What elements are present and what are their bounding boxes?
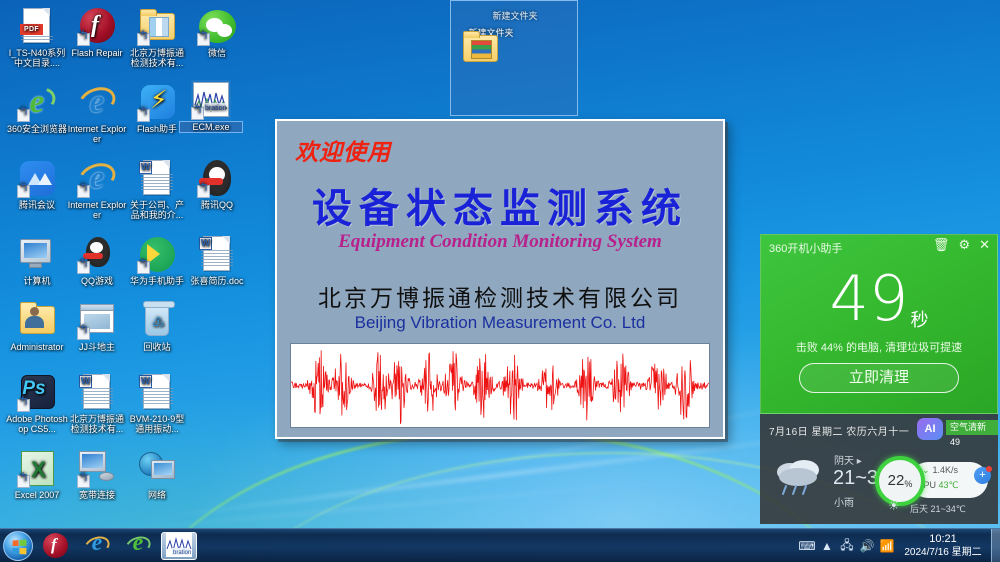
word-document-icon: W — [137, 372, 177, 412]
weather-date: 7月16日 星期二 农历六月十一 — [769, 423, 909, 438]
desktop-icon-ecm-exe[interactable]: bration ECM.exe — [180, 80, 242, 132]
desktop-icon-internet-explorer[interactable]: e Internet Explorer — [66, 82, 128, 144]
taskbar[interactable]: f e e bration — [0, 528, 1000, 562]
taskbar-button-internet-explorer[interactable]: e — [79, 532, 115, 560]
flash-player-icon: f — [43, 533, 69, 559]
vibration-waveform-svg — [291, 344, 709, 427]
ecm-app-icon: bration — [166, 533, 192, 559]
clock-time: 10:21 — [897, 533, 989, 546]
weather-tomorrow: 后天 21~34℃ — [910, 502, 966, 515]
rain-cloud-icon — [772, 456, 826, 498]
ai-badge[interactable]: AI — [917, 418, 943, 440]
icon-label: JJ斗地主 — [66, 342, 128, 352]
360-browser-icon: e — [125, 533, 151, 559]
desktop-icon-recycle-bin[interactable]: ♳ 回收站 — [126, 300, 188, 352]
desktop-icon-resume-doc[interactable]: W 张喜简历.doc — [186, 234, 248, 286]
recycle-bin-icon: ♳ — [137, 300, 177, 340]
photoshop-icon: Ps — [17, 372, 57, 412]
icon-label: I_TS-N40系列中文目录.... — [6, 48, 68, 68]
desktop-icon-bvm-folder[interactable]: 北京万博振通检测技术有... — [126, 6, 188, 68]
show-hidden-icons-chevron[interactable]: ▲ — [817, 539, 837, 553]
desktop-icon-jj-doudizhu[interactable]: JJ斗地主 — [66, 300, 128, 352]
taskbar-button-ecm[interactable]: bration — [161, 532, 197, 560]
add-widget-button[interactable]: + — [974, 467, 991, 484]
weather-system-widget[interactable]: 7月16日 星期二 农历六月十一 AI 空气清新 49 阴天 ▸ 21~31 小… — [760, 414, 998, 524]
internet-explorer-icon: e — [84, 533, 110, 559]
desktop-icon-photoshop[interactable]: Ps Adobe Photoshop CS5... — [6, 372, 68, 434]
company-name-english: Beijing Vibration Measurement Co. Ltd — [277, 313, 723, 333]
internet-explorer-icon: e — [77, 82, 117, 122]
icon-label: 北京万博振通检测技术有... — [126, 48, 188, 68]
flash-repair-icon: f — [77, 6, 117, 46]
clock-date: 2024/7/16 星期二 — [897, 546, 989, 559]
splash-window[interactable]: 欢迎使用 设备状态监测系统 Equipment Condition Monito… — [275, 119, 725, 439]
icon-label: 回收站 — [126, 342, 188, 352]
icon-label: Adobe Photoshop CS5... — [6, 414, 68, 434]
company-name-chinese: 北京万博振通检测技术有限公司 — [277, 279, 723, 313]
flash-helper-icon: ⚡ — [137, 82, 177, 122]
start-button[interactable] — [3, 531, 33, 561]
icon-label: BVM-210-9型通用振动... — [126, 414, 188, 434]
keyboard-icon[interactable]: ⌨ — [797, 539, 817, 553]
trash-icon[interactable]: 🗑 — [933, 238, 950, 252]
huawei-assistant-icon — [137, 234, 177, 274]
desktop-icon-new-folder[interactable]: 新建文件夹 — [460, 28, 522, 38]
desktop-icon-network[interactable]: 网络 — [126, 448, 188, 500]
network-speed: ⌄1.4K/s — [922, 465, 958, 476]
cpu-usage-ring: 22% — [875, 456, 925, 506]
icon-label: Administrator — [6, 342, 68, 352]
taskbar-button-360-browser[interactable]: e — [120, 532, 156, 560]
desktop-icon-bvm-company-doc[interactable]: W 北京万博振通检测技术有... — [66, 372, 128, 434]
icon-label: 360安全浏览器 — [6, 124, 68, 134]
system-tray[interactable]: ⌨ ▲ 🖧 🔊 📶 10:21 2024/7/16 星期二 — [797, 529, 1000, 562]
network-icon[interactable]: 🖧 — [837, 536, 857, 557]
icon-label: 网络 — [126, 490, 188, 500]
gear-icon[interactable]: ⚙ — [958, 238, 970, 252]
widget-title: 360开机小助手 — [769, 240, 842, 256]
air-quality-badge: 空气清新 49 — [946, 420, 998, 435]
boot-seconds-unit: 秒 — [910, 310, 928, 331]
desktop-icon-administrator[interactable]: Administrator — [6, 300, 68, 352]
user-folder-icon — [17, 300, 57, 340]
taskbar-clock[interactable]: 10:21 2024/7/16 星期二 — [897, 533, 989, 559]
signal-icon[interactable]: 📶 — [877, 539, 897, 553]
icon-label: Internet Explorer — [66, 124, 128, 144]
icon-label: 华为手机助手 — [126, 276, 188, 286]
desktop-icon-qq-games[interactable]: QQ游戏 — [66, 234, 128, 286]
tencent-meeting-icon — [17, 158, 57, 198]
clean-now-button[interactable]: 立即清理 — [799, 363, 959, 393]
widget-title-bar-icons: 🗑 ⚙ ✕ — [933, 238, 990, 252]
weather-wind: 阴天 ▸ — [834, 452, 862, 467]
ecm-app-icon: bration — [191, 80, 231, 120]
internet-explorer-icon: e — [77, 158, 117, 198]
desktop-icon-360-browser[interactable]: e 360安全浏览器 — [6, 82, 68, 134]
desktop-icon-huawei-assistant[interactable]: 华为手机助手 — [126, 234, 188, 286]
computer-icon — [17, 234, 57, 274]
desktop-icon-computer[interactable]: 计算机 — [6, 234, 68, 286]
desktop-icon-flash-helper[interactable]: ⚡ Flash助手 — [126, 82, 188, 134]
desktop-icon-tencent-qq[interactable]: 腾讯QQ — [186, 158, 248, 210]
volume-icon[interactable]: 🔊 — [857, 539, 877, 553]
app-title-chinese: 设备状态监测系统 — [277, 176, 723, 234]
svg-text:bration: bration — [173, 550, 191, 556]
pdf-document-icon: PDF — [17, 6, 57, 46]
cpu-usage-value: 22 — [888, 472, 905, 489]
icon-label: 北京万博振通检测技术有... — [66, 414, 128, 434]
icon-label: 张喜简历.doc — [186, 276, 248, 286]
desktop[interactable]: PDF I_TS-N40系列中文目录.... f Flash Repair 北京… — [0, 0, 1000, 562]
close-icon[interactable]: ✕ — [979, 238, 990, 252]
icon-label: 腾讯会议 — [6, 200, 68, 210]
broadband-connection-icon — [77, 448, 117, 488]
icon-label: 腾讯QQ — [186, 200, 248, 210]
icon-label: Flash Repair — [66, 48, 128, 58]
welcome-text: 欢迎使用 — [295, 133, 391, 167]
desktop-icon-wechat[interactable]: 微信 — [186, 6, 248, 58]
sun-icon: ☀ — [888, 498, 900, 514]
icon-label: Excel 2007 — [6, 490, 68, 500]
desktop-icon-pdf-catalog[interactable]: PDF I_TS-N40系列中文目录.... — [6, 6, 68, 68]
vibration-waveform-panel — [290, 343, 710, 428]
cpu-usage-unit: % — [904, 479, 912, 489]
icon-label: 微信 — [186, 48, 248, 58]
360-browser-icon: e — [17, 82, 57, 122]
word-document-icon: W — [197, 234, 237, 274]
show-desktop-button[interactable] — [991, 529, 1000, 562]
app-title-english: Equipment Condition Monitoring System — [277, 231, 723, 253]
icon-label: ECM.exe — [180, 122, 242, 132]
icon-label: 计算机 — [6, 276, 68, 286]
icon-label: Flash助手 — [126, 124, 188, 134]
desktop-icon-tencent-meeting[interactable]: 腾讯会议 — [6, 158, 68, 210]
boot-seconds-number: 49 — [830, 262, 909, 335]
taskbar-button-flash[interactable]: f — [38, 532, 74, 560]
qq-games-icon — [77, 234, 117, 274]
word-document-icon: W — [137, 158, 177, 198]
selection-title-label: 新建文件夹 — [455, 9, 575, 22]
icon-label: QQ游戏 — [66, 276, 128, 286]
icon-label: 关于公司、产品和我的介... — [126, 200, 188, 220]
folder-icon — [137, 6, 177, 46]
icon-label: Internet Explorer — [66, 200, 128, 220]
desktop-icon-excel-2007[interactable]: Excel 2007 — [6, 448, 68, 500]
excel-icon — [17, 448, 57, 488]
desktop-icon-flash-repair[interactable]: f Flash Repair — [66, 6, 128, 58]
svg-text:bration: bration — [205, 105, 227, 112]
wechat-icon — [197, 6, 237, 46]
desktop-icon-bvm-210-9-doc[interactable]: W BVM-210-9型通用振动... — [126, 372, 188, 434]
weather-condition: 小雨 — [834, 494, 854, 509]
desktop-icon-about-company-doc[interactable]: W 关于公司、产品和我的介... — [126, 158, 188, 220]
network-icon — [137, 448, 177, 488]
qq-icon — [197, 158, 237, 198]
jj-game-icon — [77, 300, 117, 340]
word-document-icon: W — [77, 372, 117, 412]
desktop-icon-broadband-connection[interactable]: 宽带连接 — [66, 448, 128, 500]
icon-label: 宽带连接 — [66, 490, 128, 500]
boot-description: 击败 44% 的电脑, 清理垃圾可提速 — [761, 339, 997, 355]
desktop-icon-internet-explorer-2[interactable]: e Internet Explorer — [66, 158, 128, 220]
360-boot-assistant-widget[interactable]: 360开机小助手 🗑 ⚙ ✕ 49秒 击败 44% 的电脑, 清理垃圾可提速 立… — [760, 234, 998, 414]
